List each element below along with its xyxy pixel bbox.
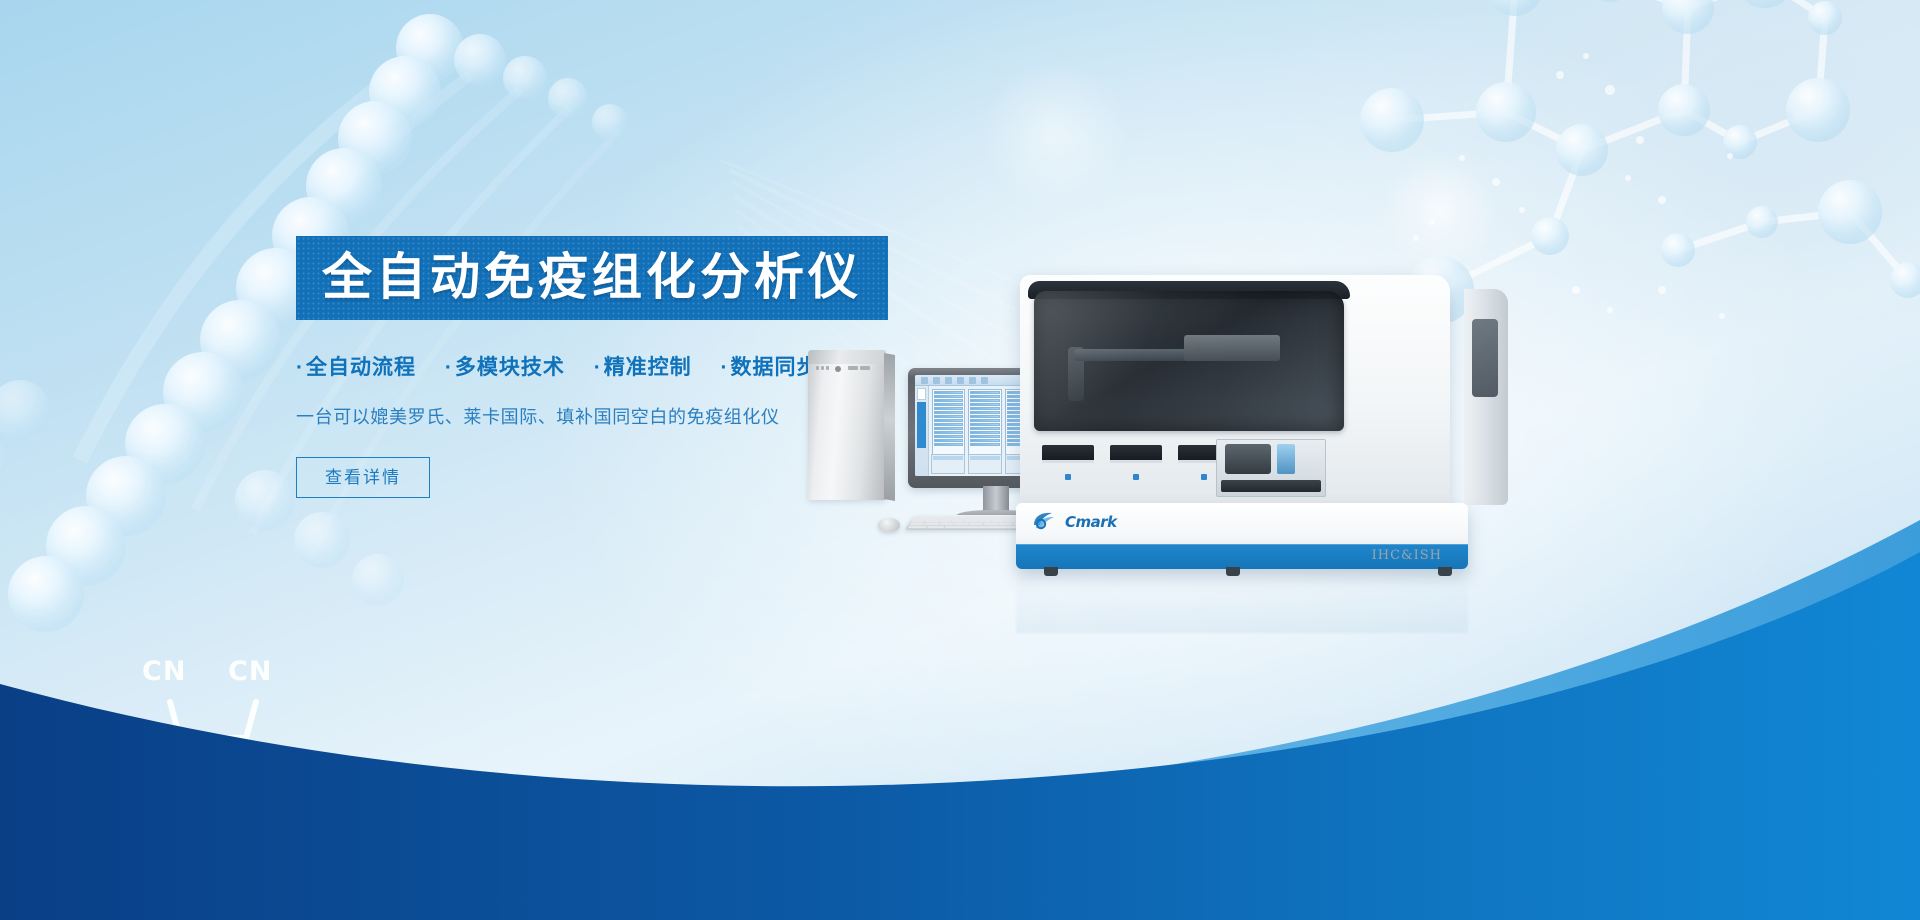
analyzer-glass-cover — [1034, 291, 1344, 431]
analyzer-side-window — [1472, 319, 1498, 397]
equipment-group: IHC — [790, 280, 1490, 640]
cmark-swoosh-icon — [1032, 511, 1062, 533]
ihc-analyzer: Cmark IHC&ISH — [1020, 275, 1480, 575]
pc-tower — [808, 360, 886, 500]
analyzer-floor-reflection — [1016, 575, 1468, 633]
pc-tower-side — [884, 353, 895, 501]
analyzer-drawer — [1042, 445, 1094, 491]
bullet-icon: · — [721, 356, 729, 379]
analyzer-body — [1020, 275, 1450, 507]
feature-label: 全自动流程 — [306, 356, 416, 379]
feature-label: 多模块技术 — [455, 356, 565, 379]
pc-tower-bays — [816, 366, 876, 373]
light-flare — [980, 60, 1130, 210]
bullet-icon: · — [445, 356, 453, 379]
mouse — [878, 518, 900, 532]
chem-label-cn-left: CN — [142, 656, 186, 687]
analyzer-drawer — [1110, 445, 1162, 491]
chem-label-cn-right: CN — [228, 656, 272, 687]
analyzer-brand-name: Cmark — [1065, 513, 1117, 531]
feature-item: ·多模块技术 — [445, 356, 572, 379]
analyzer-base: Cmark IHC&ISH — [1016, 503, 1468, 569]
view-details-button[interactable]: 查看详情 — [296, 457, 430, 498]
analyzer-brand-logo: Cmark — [1032, 511, 1117, 533]
feature-item: ·精准控制 — [594, 356, 699, 379]
feature-item: ·全自动流程 — [296, 356, 423, 379]
glass-reflection — [1034, 291, 1242, 431]
feature-label: 精准控制 — [604, 356, 692, 379]
page-title: 全自动免疫组化分析仪 — [322, 250, 862, 304]
chemical-structure-decoration: CN CN — [140, 660, 320, 810]
analyzer-optics-module — [1216, 439, 1326, 497]
software-sidebar — [915, 386, 929, 476]
light-flare — [1380, 150, 1500, 270]
banner-root: 全自动免疫组化分析仪 ·全自动流程 ·多模块技术 ·精准控制 ·数据同步传输 一… — [0, 0, 1920, 920]
pc-tower-top — [808, 350, 886, 364]
analyzer-model-label: IHC&ISH — [1372, 548, 1442, 563]
bullet-icon: · — [296, 356, 304, 379]
bullet-icon: · — [594, 356, 602, 379]
